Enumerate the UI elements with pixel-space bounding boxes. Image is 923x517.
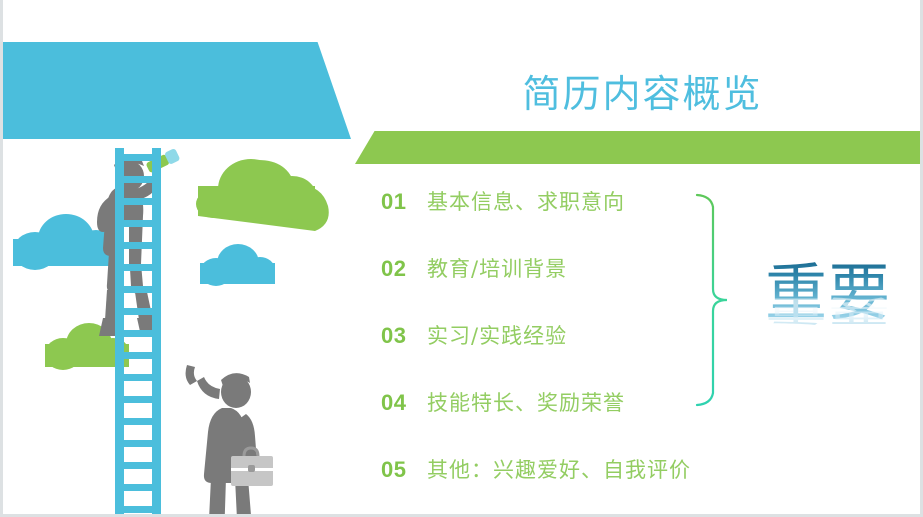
list-item-label: 基本信息、求职意向 xyxy=(427,186,625,216)
content-list: 01 基本信息、求职意向 02 教育/培训背景 03 实习/实践经验 04 技能… xyxy=(381,186,711,484)
list-item-label: 其他：兴趣爱好、自我评价 xyxy=(427,454,691,484)
list-item-label: 实习/实践经验 xyxy=(427,320,567,350)
list-item[interactable]: 05 其他：兴趣爱好、自我评价 xyxy=(381,454,711,484)
list-item-number: 03 xyxy=(381,323,427,349)
cloud-blue-right-icon xyxy=(200,244,275,286)
green-title-bar-shape xyxy=(355,131,923,164)
page-title: 简历内容概览 xyxy=(355,63,923,118)
curly-brace-icon xyxy=(695,192,739,408)
observer-figure-icon xyxy=(186,365,273,517)
list-item[interactable]: 04 技能特长、奖励荣誉 xyxy=(381,387,711,454)
list-item[interactable]: 02 教育/培训背景 xyxy=(381,253,711,320)
list-item-number: 04 xyxy=(381,390,427,416)
list-item-label: 技能特长、奖励荣誉 xyxy=(427,387,625,417)
important-callout: 重要 重要 xyxy=(765,262,923,392)
important-text-reflection: 重要 xyxy=(765,295,923,325)
list-item-label: 教育/培训背景 xyxy=(427,253,567,283)
blue-banner-shape xyxy=(0,42,351,139)
illustration-group xyxy=(3,140,355,517)
list-item[interactable]: 01 基本信息、求职意向 xyxy=(381,186,711,253)
list-item[interactable]: 03 实习/实践经验 xyxy=(381,320,711,387)
list-item-number: 01 xyxy=(381,189,427,215)
cloud-green-large-icon xyxy=(196,159,329,231)
slide-canvas: 简历内容概览 xyxy=(0,0,923,517)
list-item-number: 02 xyxy=(381,256,427,282)
list-item-number: 05 xyxy=(381,457,427,483)
ladder-icon xyxy=(115,148,161,517)
